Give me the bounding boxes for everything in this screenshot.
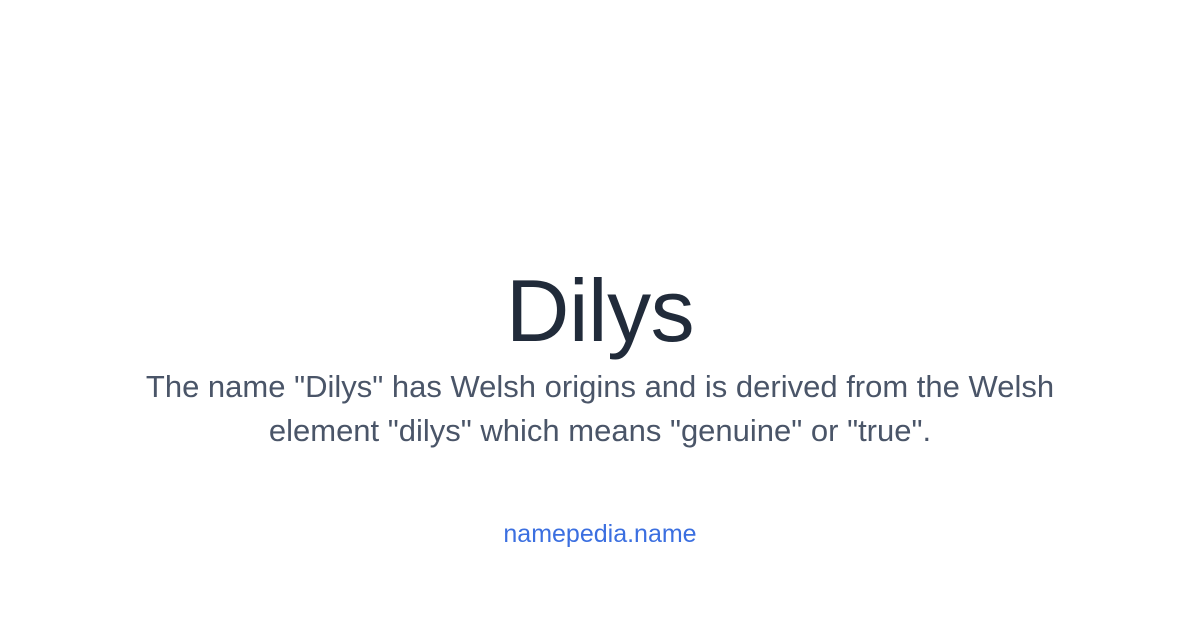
name-meaning-card: Dilys The name "Dilys" has Welsh origins… — [0, 0, 1200, 630]
page-title: Dilys — [0, 265, 1200, 357]
footer: namepedia.name — [0, 518, 1200, 550]
site-link[interactable]: namepedia.name — [503, 520, 696, 548]
name-description: The name "Dilys" has Welsh origins and i… — [130, 365, 1070, 453]
